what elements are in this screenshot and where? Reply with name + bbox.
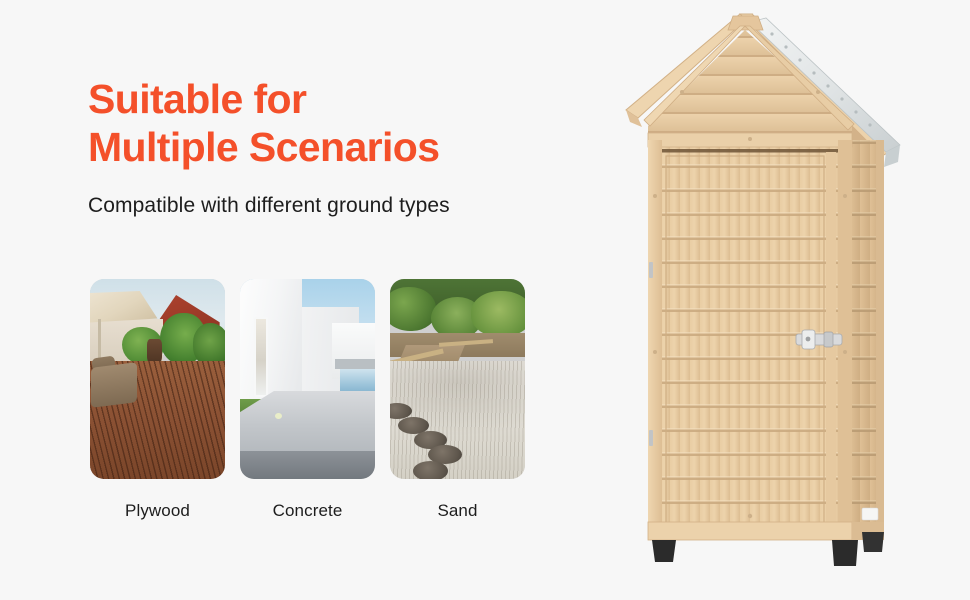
- product-image-wooden-shed: [600, 0, 940, 600]
- subheadline: Compatible with different ground types: [88, 194, 558, 218]
- scenario-item-concrete: Concrete: [240, 279, 375, 521]
- product-label-sticker: [862, 508, 878, 520]
- deck-scene-art: [90, 279, 225, 479]
- scenario-caption-concrete: Concrete: [240, 501, 375, 521]
- scenario-item-sand: Sand: [390, 279, 525, 521]
- scenario-image-plywood: [90, 279, 225, 479]
- scenario-caption-sand: Sand: [390, 501, 525, 521]
- foot-back-right: [862, 532, 884, 552]
- scenario-thumbnail-row: Plywood Concrete: [90, 279, 525, 521]
- concrete-scene-art: [240, 279, 375, 479]
- zen-garden-scene-art: [390, 279, 525, 479]
- side-corner-post: [876, 140, 884, 540]
- copy-block: Suitable for Multiple Scenarios Compatib…: [88, 74, 558, 218]
- headline-line-2: Multiple Scenarios: [88, 122, 558, 172]
- foot-front-right: [832, 540, 858, 566]
- scenario-image-concrete: [240, 279, 375, 479]
- door-top-gap: [654, 149, 846, 153]
- scenario-caption-plywood: Plywood: [90, 501, 225, 521]
- door-stile-left: [648, 140, 662, 538]
- promo-banner: Suitable for Multiple Scenarios Compatib…: [0, 0, 970, 600]
- wooden-shed-illustration: [600, 0, 940, 600]
- headline-line-1: Suitable for: [88, 74, 558, 124]
- scenario-image-sand: [390, 279, 525, 479]
- foot-front-left: [652, 540, 676, 562]
- scenario-item-plywood: Plywood: [90, 279, 225, 521]
- shed-bottom-rail: [648, 522, 852, 540]
- roof-ridge-block: [728, 16, 763, 30]
